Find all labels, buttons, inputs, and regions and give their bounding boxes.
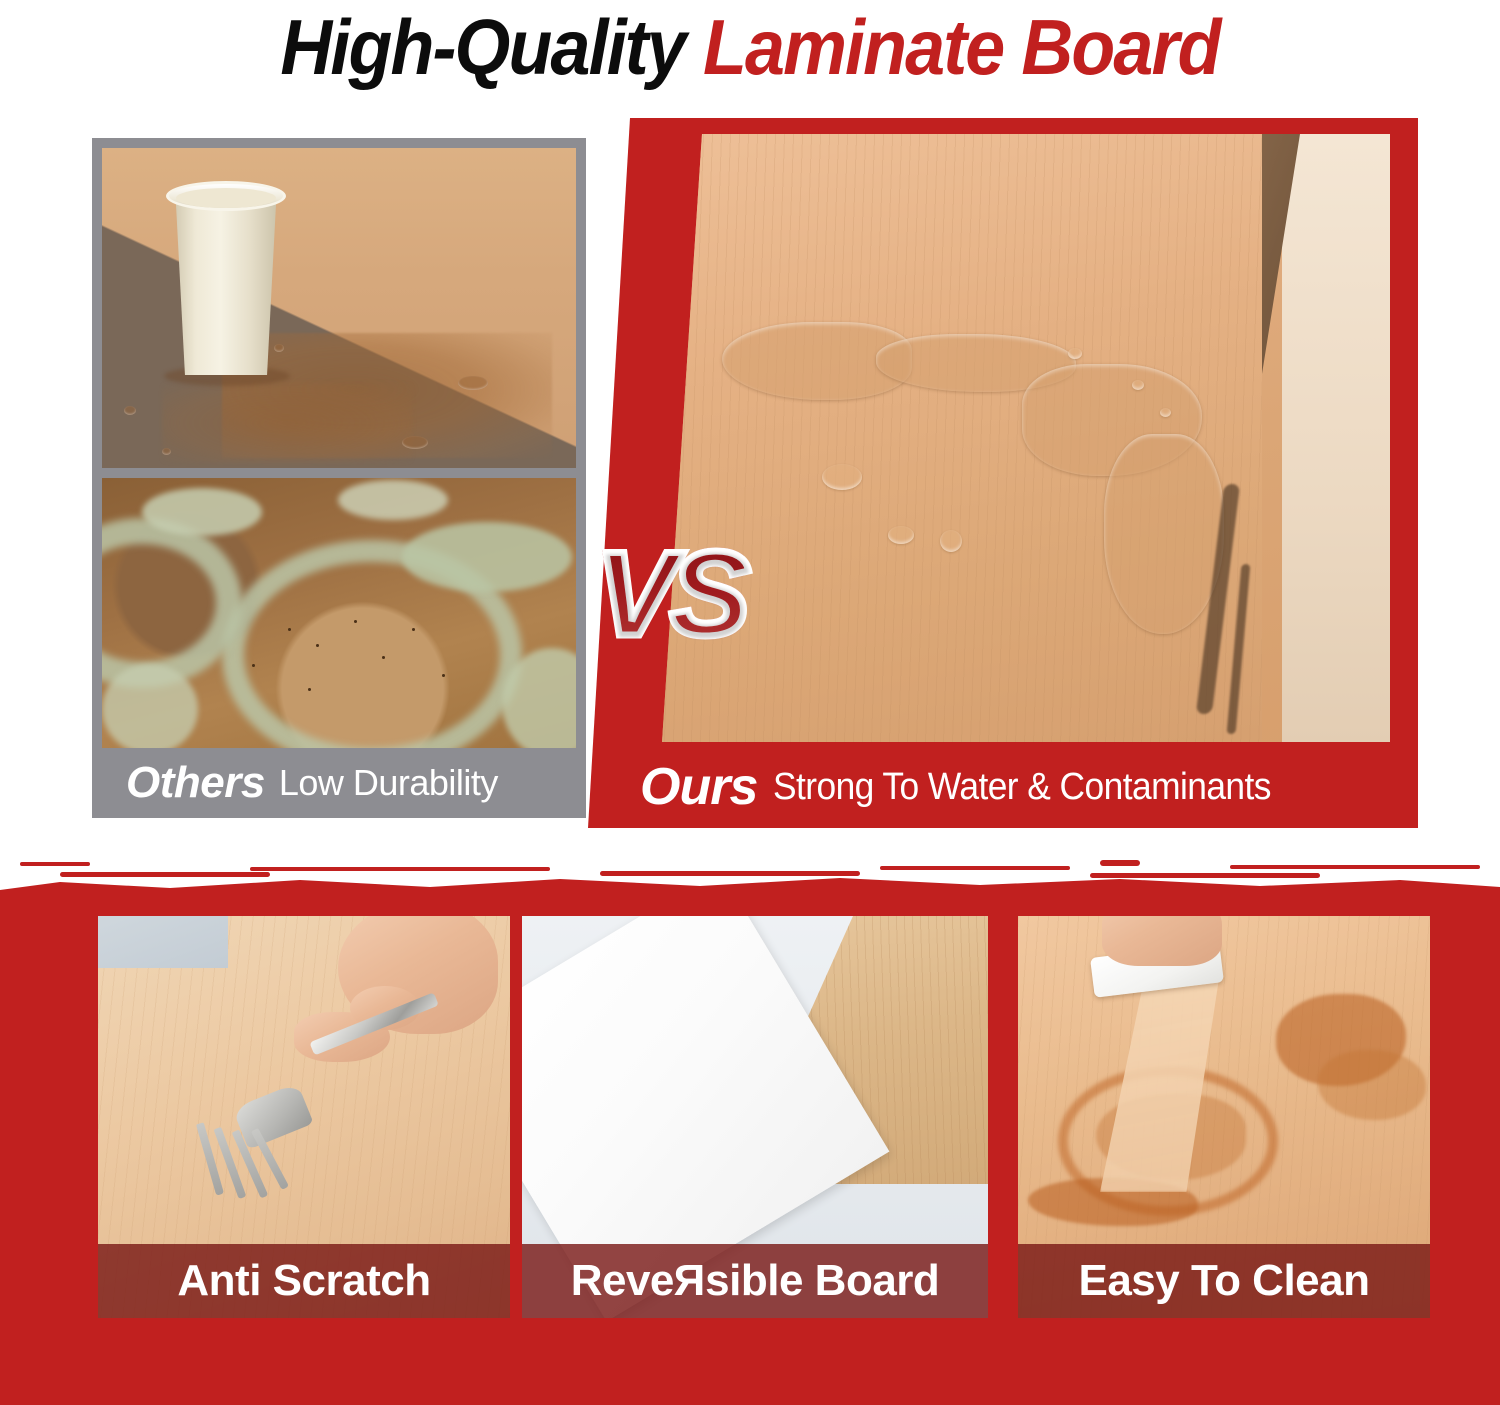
spill-stain-small	[162, 383, 412, 463]
feature-card-anti-scratch: Anti Scratch	[95, 913, 513, 1321]
mold-speck	[288, 628, 291, 631]
mold-patch	[338, 480, 448, 520]
feature-label: Easy To Clean	[1018, 1244, 1430, 1318]
mold-speck	[354, 620, 357, 623]
others-title: Others	[126, 758, 265, 808]
comparison-section: Others Low Durability Ours Strong To Wat…	[0, 110, 1500, 830]
brush-stroke	[600, 871, 860, 876]
fork-head	[232, 1082, 313, 1149]
brush-stroke	[1230, 865, 1480, 869]
brush-stroke	[880, 866, 1070, 870]
water-droplet	[1160, 408, 1171, 417]
water-spill-blob	[1104, 434, 1224, 634]
ours-subtitle: Strong To Water & Contaminants	[773, 766, 1271, 809]
liquid-droplet	[458, 376, 488, 390]
page-title: High-Quality Laminate Board	[60, 2, 1440, 93]
mold-speck	[382, 656, 385, 659]
water-droplet	[940, 530, 962, 552]
reversible-board-photo: ReveRsible Board	[522, 916, 988, 1318]
spilled-drink-photo	[102, 148, 576, 468]
mold-speck	[412, 628, 415, 631]
feature-label-post: sible Board	[705, 1256, 939, 1306]
water-droplet	[888, 526, 914, 544]
photo-background-wall	[1282, 134, 1390, 742]
brush-stroke	[1100, 860, 1140, 866]
water-droplet	[822, 464, 862, 490]
sauce-stain	[1318, 1050, 1426, 1120]
brush-stroke	[20, 862, 90, 866]
hand	[1102, 913, 1222, 966]
ours-title: Ours	[640, 757, 757, 817]
liquid-droplet	[274, 344, 284, 352]
brush-stroke	[250, 867, 550, 871]
mold-patch	[102, 664, 198, 748]
headline-part-laminate: Laminate Board	[703, 3, 1220, 91]
photo-floor-background	[98, 916, 228, 968]
brush-stroke	[60, 872, 270, 877]
others-subtitle: Low Durability	[279, 762, 498, 804]
liquid-droplet	[124, 406, 136, 415]
liquid-droplet	[402, 436, 428, 449]
mold-patch	[142, 488, 262, 536]
mold-speck	[308, 688, 311, 691]
feature-card-easy-to-clean: Easy To Clean	[1015, 913, 1433, 1321]
cup-interior	[176, 188, 276, 208]
water-droplet	[1068, 348, 1082, 359]
mirrored-r-glyph: R	[674, 1256, 705, 1306]
ours-caption: Ours Strong To Water & Contaminants	[588, 746, 1418, 828]
water-droplet	[1132, 380, 1144, 390]
others-photo-stack	[102, 148, 576, 748]
mold-ring	[102, 518, 242, 688]
others-panel: Others Low Durability	[92, 138, 586, 818]
feature-card-reversible-board: ReveRsible Board	[519, 913, 991, 1321]
brush-stroke-divider	[0, 858, 1500, 898]
feature-label-pre: Reve	[571, 1256, 674, 1306]
mold-speck	[316, 644, 319, 647]
mold-damage-photo	[102, 478, 576, 748]
feature-label: Anti Scratch	[98, 1244, 510, 1318]
liquid-droplet	[162, 448, 171, 455]
mold-patch	[402, 522, 572, 592]
feature-label: ReveRsible Board	[522, 1244, 988, 1318]
ours-panel: Ours Strong To Water & Contaminants	[588, 118, 1418, 828]
easy-to-clean-photo: Easy To Clean	[1018, 916, 1430, 1318]
mold-speck	[252, 664, 255, 667]
feature-cards: Anti Scratch ReveRsible Board Easy To Cl…	[0, 913, 1500, 1333]
versus-badge: VS	[596, 534, 744, 654]
mold-speck	[442, 674, 445, 677]
headline-part-quality: High-Quality	[280, 3, 684, 91]
anti-scratch-photo: Anti Scratch	[98, 916, 510, 1318]
paper-cup	[172, 190, 280, 375]
others-caption: Others Low Durability	[92, 748, 586, 818]
water-resistance-photo	[662, 134, 1390, 742]
brush-stroke	[1090, 873, 1320, 878]
